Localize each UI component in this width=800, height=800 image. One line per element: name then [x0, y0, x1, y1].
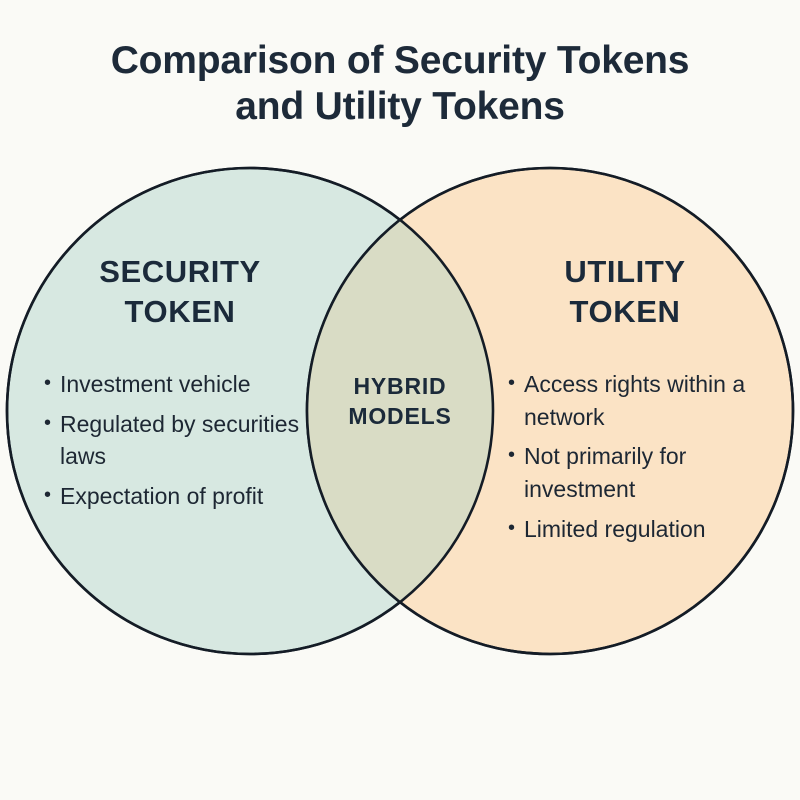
bullet-dot-icon: •: [44, 480, 60, 510]
list-item: • Expectation of profit: [44, 480, 312, 513]
list-item-label: Access rights within a network: [524, 368, 776, 433]
list-item-label: Limited regulation: [524, 513, 776, 546]
list-item-label: Investment vehicle: [60, 368, 312, 401]
list-item: • Access rights within a network: [508, 368, 776, 433]
hybrid-models-label: HYBRID MODELS: [325, 372, 475, 432]
bullet-dot-icon: •: [44, 408, 60, 438]
utility-token-bullet-list: • Access rights within a network • Not p…: [508, 368, 776, 552]
security-token-heading: SECURITY TOKEN: [30, 252, 330, 331]
bullet-dot-icon: •: [44, 368, 60, 398]
list-item: • Investment vehicle: [44, 368, 312, 401]
security-token-bullet-list: • Investment vehicle • Regulated by secu…: [44, 368, 312, 520]
utility-token-heading-line-2: TOKEN: [480, 292, 770, 332]
list-item-label: Expectation of profit: [60, 480, 312, 513]
security-token-heading-line-1: SECURITY: [30, 252, 330, 292]
venn-diagram-canvas: Comparison of Security Tokens and Utilit…: [0, 0, 800, 800]
list-item-label: Not primarily for investment: [524, 440, 776, 505]
list-item: • Limited regulation: [508, 513, 776, 546]
hybrid-models-label-line-2: MODELS: [325, 402, 475, 432]
security-token-heading-line-2: TOKEN: [30, 292, 330, 332]
list-item-label: Regulated by securities laws: [60, 408, 312, 473]
list-item: • Not primarily for investment: [508, 440, 776, 505]
utility-token-heading-line-1: UTILITY: [480, 252, 770, 292]
list-item: • Regulated by securities laws: [44, 408, 312, 473]
bullet-dot-icon: •: [508, 368, 524, 398]
bullet-dot-icon: •: [508, 440, 524, 470]
bullet-dot-icon: •: [508, 513, 524, 543]
utility-token-heading: UTILITY TOKEN: [480, 252, 770, 331]
hybrid-models-label-line-1: HYBRID: [325, 372, 475, 402]
